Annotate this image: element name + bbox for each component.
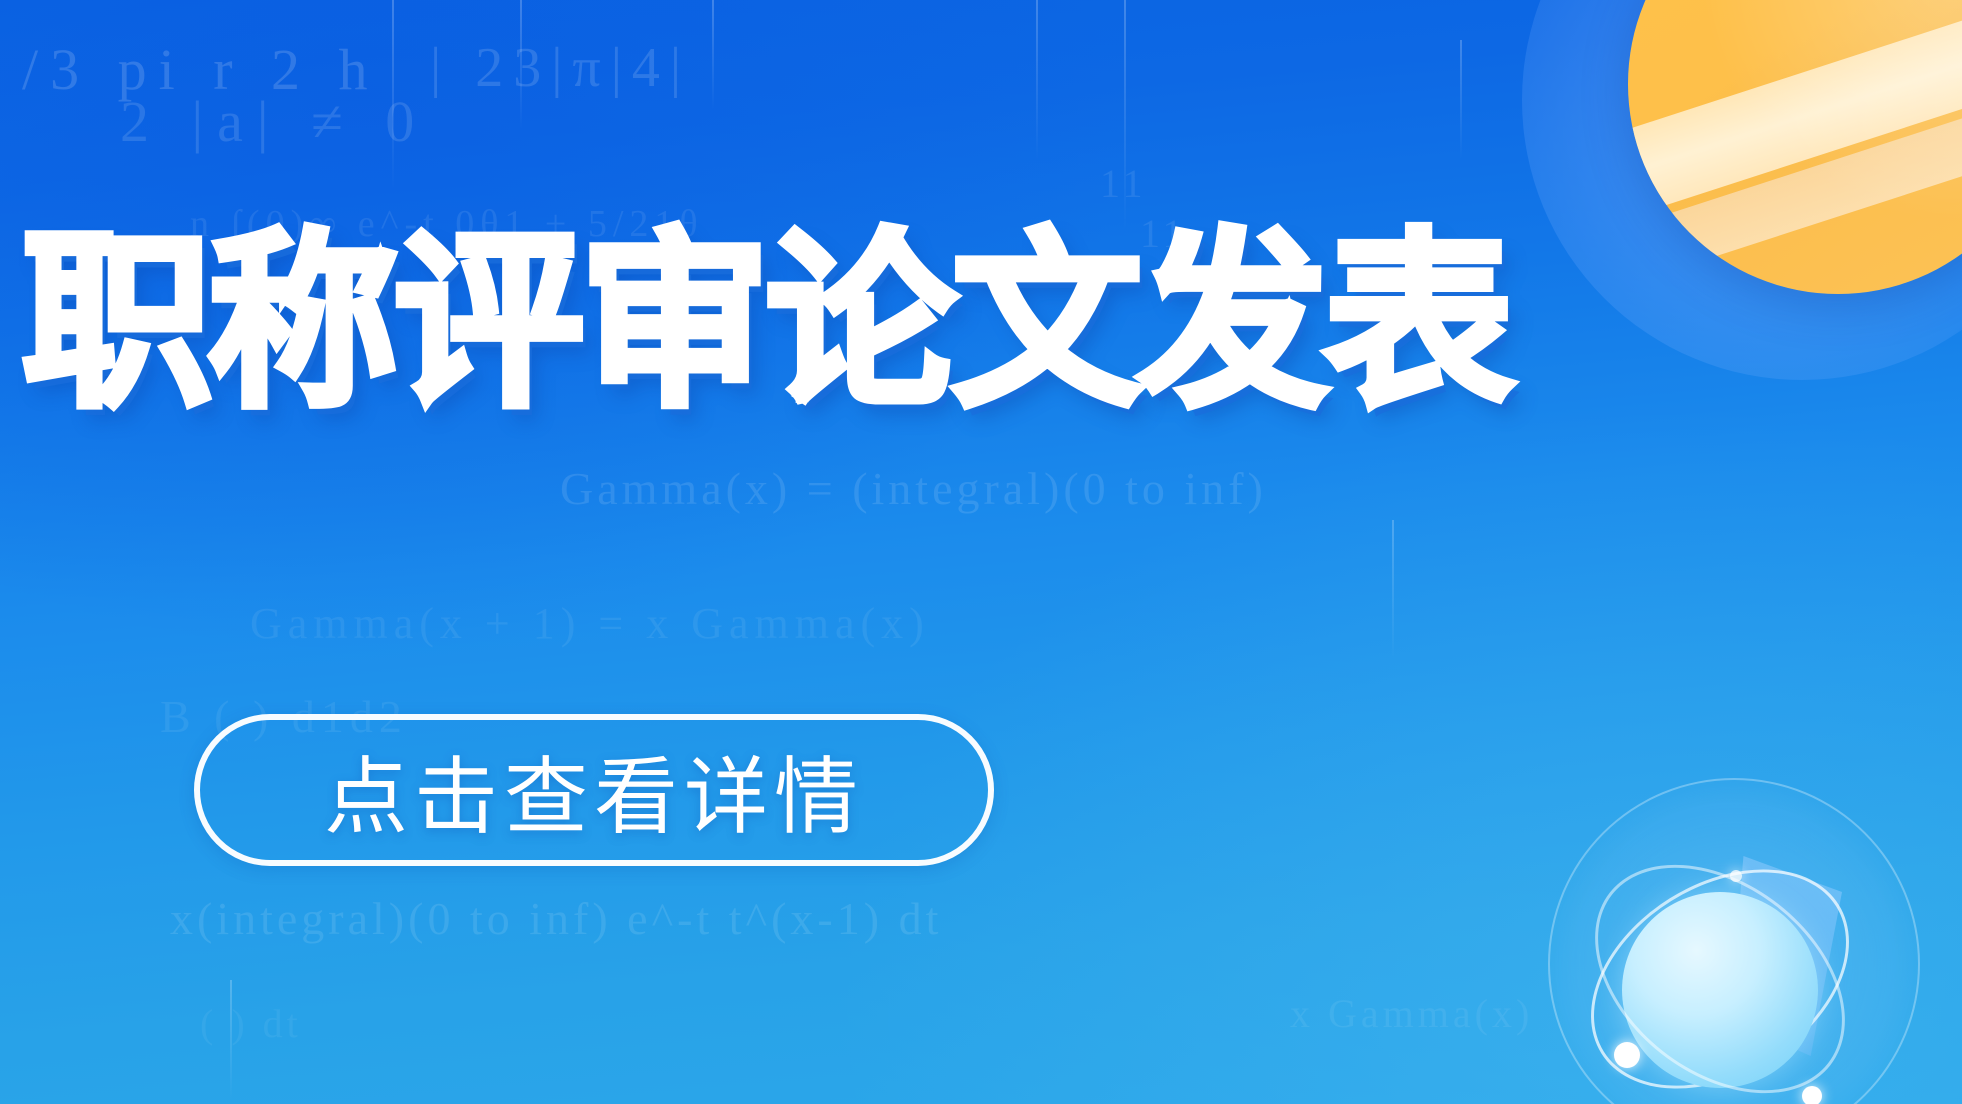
math-watermark: x(integral)(0 to inf) e^-t t^(x-1) dt [170, 892, 942, 945]
math-watermark: x Gamma(x) [1290, 990, 1533, 1037]
view-details-button-label: 点击查看详情 [324, 730, 864, 851]
math-watermark: 2 |a| ≠ 0 [120, 88, 428, 155]
decor-hairline [1392, 520, 1394, 660]
electron-dot-icon [1802, 1086, 1822, 1104]
atom-icon [1534, 764, 1934, 1104]
math-watermark: ( ) dt [200, 1000, 302, 1047]
math-watermark: 11 [1100, 160, 1147, 207]
math-watermark: Gamma(x) = (integral)(0 to inf) [560, 462, 1267, 515]
electron-dot-icon [1730, 870, 1742, 882]
view-details-button[interactable]: 点击查看详情 [194, 714, 994, 866]
promo-banner: /3 pi r 2 h 2 |a| ≠ 0 | 23|π|4| n ∫(0)∞ … [0, 0, 1962, 1104]
decor-hairline [712, 0, 714, 110]
decor-hairline [1460, 40, 1462, 160]
math-watermark: Gamma(x + 1) = x Gamma(x) [250, 598, 930, 649]
banner-headline: 职称评审论文发表 [22, 228, 1510, 418]
math-watermark: | 23|π|4| [430, 36, 691, 100]
planet-icon [1628, 0, 1962, 294]
decor-hairline [1036, 0, 1038, 160]
electron-dot-icon [1614, 1042, 1640, 1068]
